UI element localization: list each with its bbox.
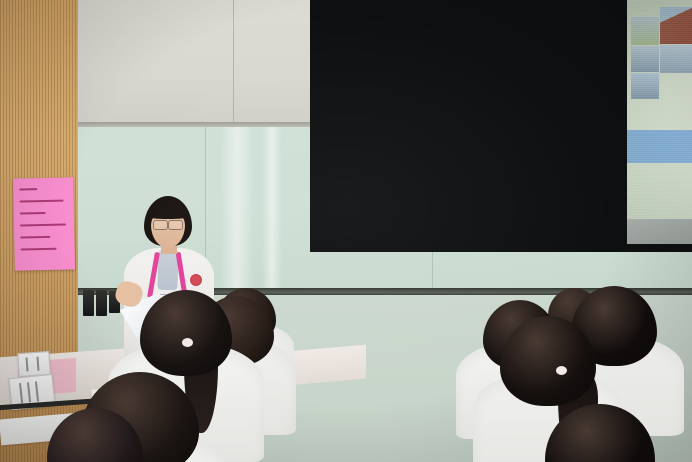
binder-folder: [83, 290, 94, 316]
screen-unused-band: [627, 219, 692, 244]
glass-reflection: [262, 127, 282, 291]
eyeglasses-left-lens-icon: [153, 220, 168, 230]
coat-emblem: [190, 274, 202, 286]
collage-photo-0: [631, 17, 659, 45]
slide-subtitle: 引导员 葛维娟: [627, 138, 692, 152]
binder-folder: [96, 290, 107, 316]
table-name-card-1: [17, 351, 51, 377]
wood-wall-panel: [0, 0, 78, 352]
slide-title: 学习风格测试: [627, 62, 692, 89]
projection-screen-frame: 西安培华学院 XI AN PEIHUA UNIVERSITY 学习风格测试 引导…: [310, 0, 692, 252]
glass-reflection: [220, 127, 254, 291]
collage-photo-1: [660, 7, 692, 44]
presentation-slide: 西安培华学院 XI AN PEIHUA UNIVERSITY 学习风格测试 引导…: [627, 0, 692, 219]
glass-seam: [432, 252, 433, 292]
projection-screen-surface: 西安培华学院 XI AN PEIHUA UNIVERSITY 学习风格测试 引导…: [627, 0, 692, 244]
wall-seam: [233, 0, 234, 126]
pink-handwritten-poster: [13, 177, 75, 270]
eyeglasses-right-lens-icon: [168, 220, 183, 230]
classroom-photo-scene: 西安培华学院 XI AN PEIHUA UNIVERSITY 学习风格测试 引导…: [0, 0, 692, 462]
